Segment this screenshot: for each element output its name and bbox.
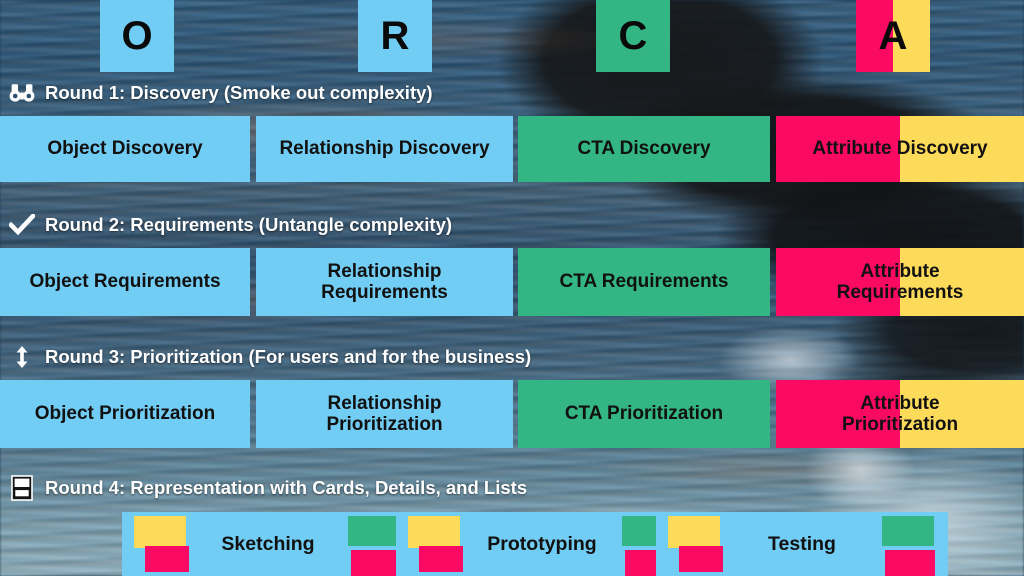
up-down-arrow-icon <box>8 344 36 370</box>
cell-cta-prioritization-label: CTA Prioritization <box>565 403 723 424</box>
cell-cta-requirements-label: CTA Requirements <box>560 271 729 292</box>
cell-object-requirements[interactable]: Object Requirements <box>0 248 250 316</box>
letter-tile-c-glyph: C <box>619 16 648 56</box>
cell-attribute-discovery-label: Attribute Discovery <box>812 138 987 159</box>
letter-tile-r: R <box>358 0 432 72</box>
sketch-swatch-pair-right <box>348 516 400 572</box>
round-3-row: Object Prioritization RelationshipPriori… <box>0 380 1024 448</box>
round-1-heading-text: Round 1: Discovery (Smoke out complexity… <box>45 82 433 104</box>
cell-cta-prioritization[interactable]: CTA Prioritization <box>518 380 770 448</box>
cell-object-prioritization-label: Object Prioritization <box>35 403 216 424</box>
round-3-heading: Round 3: Prioritization (For users and f… <box>8 344 531 370</box>
cell-object-requirements-label: Object Requirements <box>29 271 220 292</box>
cell-relationship-prioritization[interactable]: RelationshipPrioritization <box>256 380 513 448</box>
letter-tile-o-glyph: O <box>121 16 152 56</box>
checkmark-icon <box>8 212 36 238</box>
round-2-row: Object Requirements RelationshipRequirem… <box>0 248 1024 316</box>
binoculars-icon <box>8 80 36 106</box>
cell-relationship-discovery[interactable]: Relationship Discovery <box>256 116 513 182</box>
testing-swatch-pair-right <box>882 516 934 572</box>
cell-attribute-requirements-label: AttributeRequirements <box>837 261 964 304</box>
cell-object-discovery-label: Object Discovery <box>47 138 202 159</box>
round-1-heading: Round 1: Discovery (Smoke out complexity… <box>8 80 433 106</box>
r4-card-sketching[interactable]: Sketching <box>122 512 414 576</box>
round-2-heading: Round 2: Requirements (Untangle complexi… <box>8 212 452 238</box>
letter-tile-o: O <box>100 0 174 72</box>
slide-canvas: O R C A Round 1: Discovery (Smoke out c <box>0 0 1024 576</box>
card-layout-icon <box>8 475 36 501</box>
cell-relationship-requirements-label: RelationshipRequirements <box>321 261 448 304</box>
letter-tile-a: A <box>856 0 930 72</box>
r4-card-testing[interactable]: Testing <box>656 512 948 576</box>
cell-attribute-requirements[interactable]: AttributeRequirements <box>776 248 1024 316</box>
cell-cta-discovery-label: CTA Discovery <box>577 138 710 159</box>
cell-relationship-prioritization-label: RelationshipPrioritization <box>326 393 442 436</box>
cell-attribute-prioritization-label: AttributePrioritization <box>842 393 958 436</box>
cell-cta-discovery[interactable]: CTA Discovery <box>518 116 770 182</box>
cell-object-prioritization[interactable]: Object Prioritization <box>0 380 250 448</box>
cell-relationship-requirements[interactable]: RelationshipRequirements <box>256 248 513 316</box>
cell-cta-requirements[interactable]: CTA Requirements <box>518 248 770 316</box>
letter-tile-c: C <box>596 0 670 72</box>
round-4-heading: Round 4: Representation with Cards, Deta… <box>8 475 527 501</box>
r4-card-prototyping[interactable]: Prototyping <box>396 512 688 576</box>
letter-tile-r-glyph: R <box>381 16 410 56</box>
round-4-heading-text: Round 4: Representation with Cards, Deta… <box>45 477 527 499</box>
cell-relationship-discovery-label: Relationship Discovery <box>279 138 489 159</box>
letter-tile-a-glyph: A <box>879 16 908 56</box>
cell-attribute-prioritization[interactable]: AttributePrioritization <box>776 380 1024 448</box>
round-2-heading-text: Round 2: Requirements (Untangle complexi… <box>45 214 452 236</box>
cell-attribute-discovery[interactable]: Attribute Discovery <box>776 116 1024 182</box>
round-3-heading-text: Round 3: Prioritization (For users and f… <box>45 346 531 368</box>
round-1-row: Object Discovery Relationship Discovery … <box>0 116 1024 182</box>
cell-object-discovery[interactable]: Object Discovery <box>0 116 250 182</box>
